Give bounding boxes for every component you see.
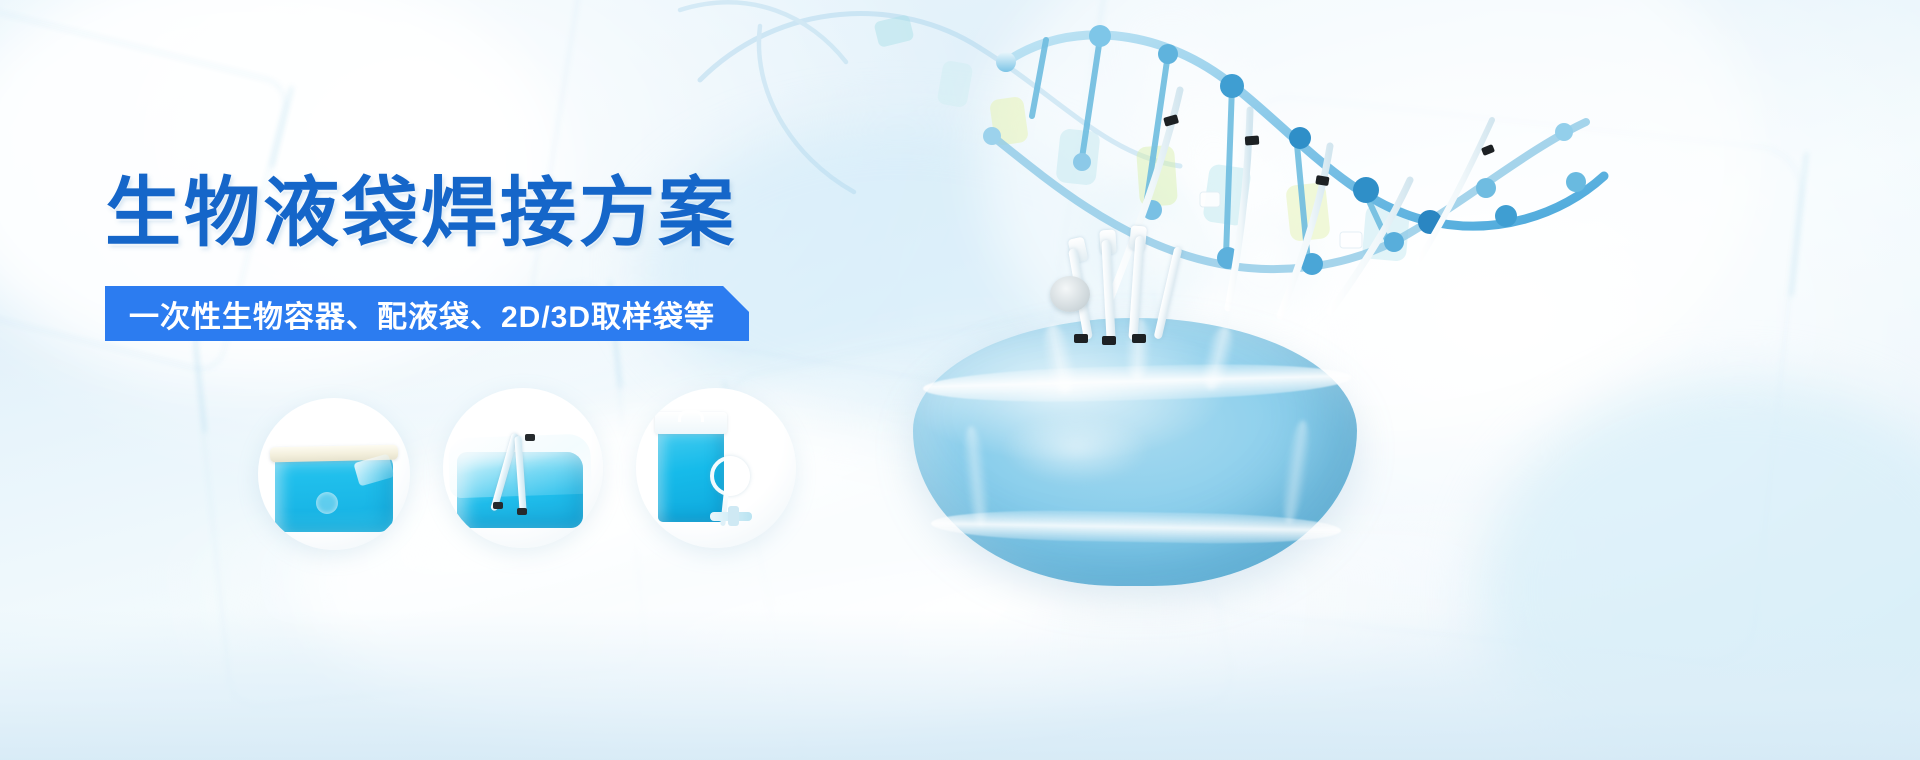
sampling-bag-handle bbox=[678, 410, 704, 422]
tubing-manifold bbox=[1040, 230, 1320, 350]
manifold-tube bbox=[1128, 236, 1144, 340]
filter-disc bbox=[1050, 276, 1090, 312]
page-title: 生物液袋焊接方案 bbox=[105, 176, 749, 252]
tube-clamp bbox=[1132, 334, 1146, 343]
manifold-tube bbox=[1154, 246, 1183, 339]
bag-highlight bbox=[1001, 412, 1151, 484]
subtitle-text: 一次性生物容器、配液袋、2D/3D取样袋等 bbox=[129, 292, 715, 336]
tube-clamp bbox=[1074, 334, 1088, 343]
sampling-bag-coiled-tube bbox=[710, 456, 750, 496]
3d-bag-clamp bbox=[517, 508, 527, 515]
3d-bag-clamp bbox=[525, 434, 535, 441]
hero-banner: 生物液袋焊接方案 一次性生物容器、配液袋、2D/3D取样袋等 bbox=[0, 0, 1920, 760]
headline-block: 生物液袋焊接方案 一次性生物容器、配液袋、2D/3D取样袋等 bbox=[105, 176, 749, 341]
3d-bag-clamp bbox=[493, 502, 503, 509]
product-thumbnail-pillow-bag[interactable] bbox=[258, 398, 410, 550]
tube-clamp bbox=[1102, 336, 1116, 345]
product-thumbnail-3d-bag[interactable] bbox=[443, 388, 603, 548]
manifold-tube bbox=[1101, 240, 1115, 340]
subtitle-ribbon: 一次性生物容器、配液袋、2D/3D取样袋等 bbox=[105, 286, 749, 341]
sampling-bag-valve bbox=[728, 506, 739, 526]
pillow-bag-port bbox=[316, 492, 338, 514]
product-thumbnail-sampling-bag[interactable] bbox=[636, 388, 796, 548]
